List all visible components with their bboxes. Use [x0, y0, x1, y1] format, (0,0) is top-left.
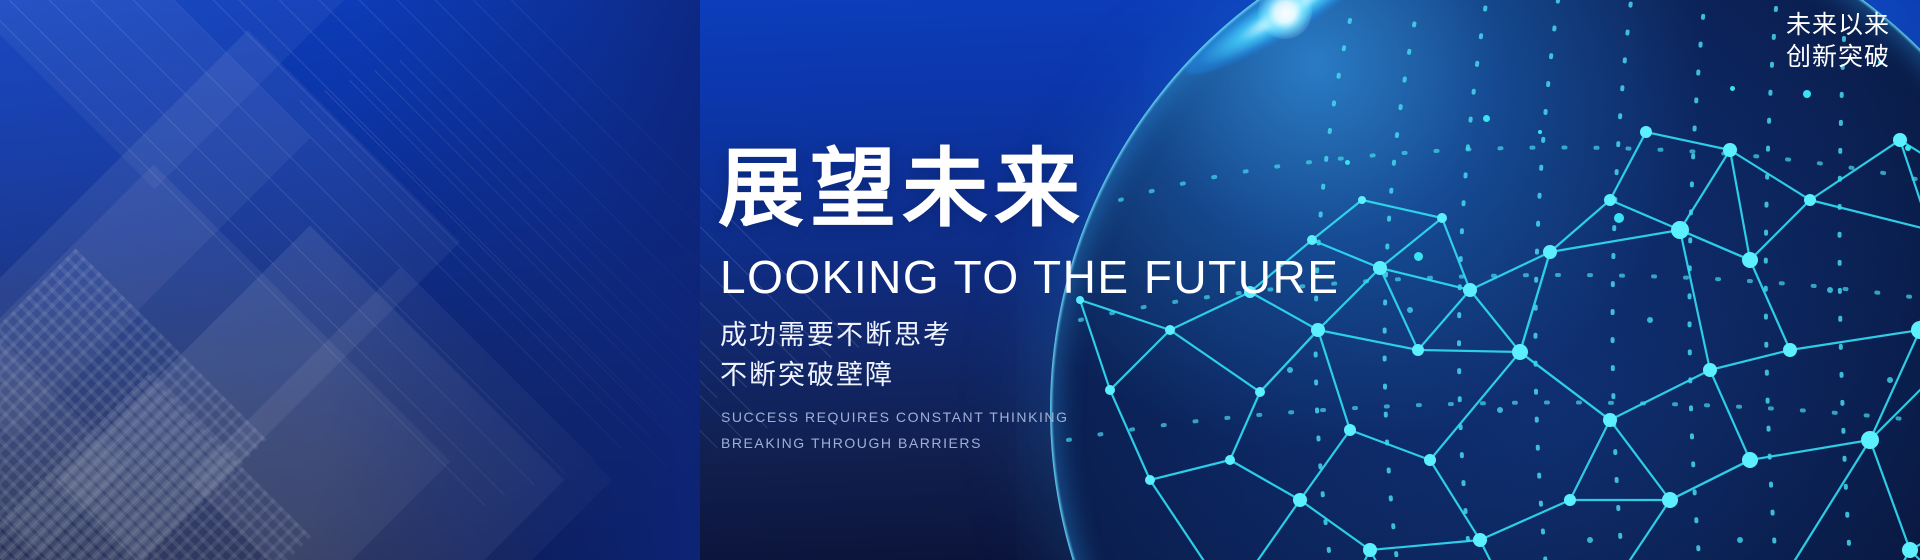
promotional-banner: 展望未来 LOOKING TO THE FUTURE 成功需要不断思考 不断突破…	[0, 0, 1920, 560]
particle-dot	[1345, 160, 1350, 165]
particle-dot	[1905, 145, 1911, 151]
headline-copy-block: 展望未来 LOOKING TO THE FUTURE 成功需要不断思考 不断突破…	[718, 146, 1339, 455]
page-title-en: LOOKING TO THE FUTURE	[720, 254, 1339, 300]
particle-dot	[1730, 86, 1735, 91]
decor-fade-mask	[0, 0, 700, 560]
corner-slogan-line1: 未来以来	[1786, 9, 1890, 41]
corner-slogan-line2: 创新突破	[1786, 41, 1890, 73]
subtitle-en-line2: BREAKING THROUGH BARRIERS	[721, 431, 1339, 455]
particle-dot	[1414, 252, 1423, 261]
corner-slogan: 未来以来 创新突破	[1786, 9, 1890, 73]
particle-dot	[1614, 213, 1624, 223]
particle-dot	[1538, 130, 1542, 134]
subtitle-en-line1: SUCCESS REQUIRES CONSTANT THINKING	[721, 405, 1339, 429]
page-title-cn: 展望未来	[718, 146, 1339, 232]
particle-dot	[1483, 115, 1490, 122]
subtitle-cn-line2: 不断突破壁障	[720, 356, 1339, 394]
subtitle-cn-line1: 成功需要不断思考	[720, 316, 1339, 354]
particle-dot	[1803, 90, 1811, 98]
